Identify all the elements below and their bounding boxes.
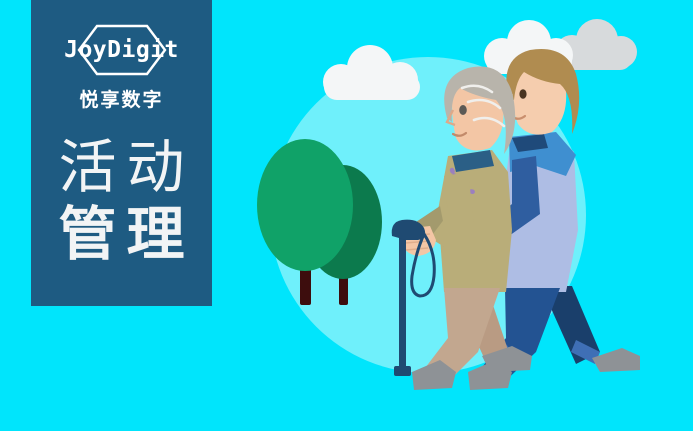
page-title: 活动 管理 — [48, 138, 194, 266]
activity-management-banner: JoyDigit 悦享数字 活动 管理 — [0, 0, 693, 431]
logo-mark: JoyDigit — [56, 24, 188, 76]
man-eye — [519, 89, 526, 99]
page-title-line-1: 活动 — [48, 138, 194, 199]
company-name-cn: 悦享数字 — [79, 85, 163, 112]
page-title-line-2: 管理 — [48, 205, 194, 266]
brand-panel: JoyDigit 悦享数字 活动 管理 — [31, 0, 212, 306]
cane-shaft — [399, 236, 406, 374]
woman-eye — [459, 105, 467, 115]
logo-block: JoyDigit 悦享数字 — [56, 24, 188, 112]
cane-tip — [394, 366, 411, 376]
logo-wordmark: JoyDigit — [56, 24, 188, 76]
